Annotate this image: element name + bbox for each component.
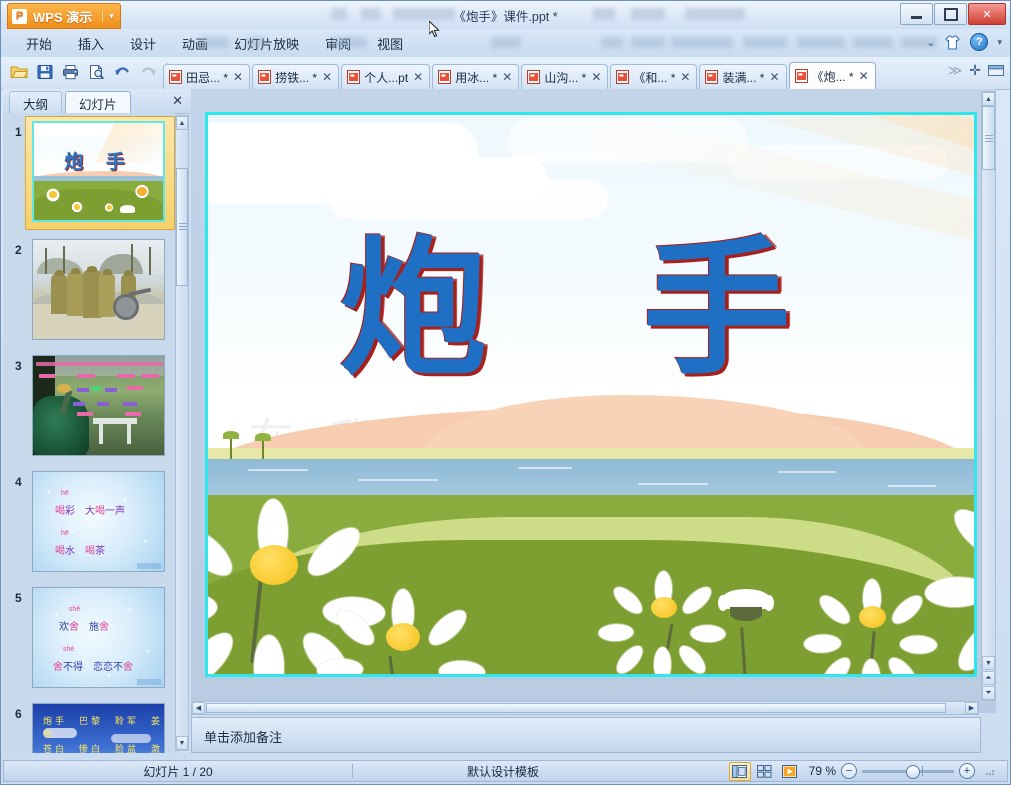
zoom-level-label: 79 % bbox=[809, 764, 836, 778]
window-title: 《炮手》课件.ppt * bbox=[1, 6, 1010, 25]
normal-view-icon[interactable] bbox=[729, 762, 751, 781]
tab-slides[interactable]: 幻灯片 bbox=[65, 91, 131, 114]
slides-panel-scrollbar[interactable]: ▲ ▼ bbox=[175, 115, 189, 751]
ppt-file-icon bbox=[527, 70, 540, 84]
scroll-up-button[interactable]: ▲ bbox=[176, 116, 188, 130]
menubar-blur-item bbox=[247, 37, 265, 48]
minimize-icon bbox=[911, 16, 922, 19]
document-tab-label: 山沟... * bbox=[544, 69, 586, 86]
daisy-flower-middle bbox=[346, 587, 462, 677]
document-tab-active[interactable]: 《炮... * ✕ bbox=[789, 62, 876, 89]
ppt-file-icon bbox=[347, 70, 360, 84]
slide-editing-stage: 在 我 的 心 里 是 一 种 心 情 炮 手 bbox=[191, 89, 996, 713]
zoom-control: 79 % − + bbox=[809, 763, 999, 779]
zoom-slider-knob[interactable] bbox=[906, 765, 920, 779]
stage-vertical-scrollbar[interactable]: ▲ ▼ ⏶ ⏷ bbox=[981, 91, 996, 701]
white-tuft-flower bbox=[716, 585, 776, 631]
thumbnail-image: hē 喝彩 大喝一声 hē 喝水 喝茶 bbox=[32, 471, 165, 572]
palm-trunk bbox=[262, 439, 264, 459]
menubar-blur-item bbox=[671, 37, 733, 48]
maximize-icon bbox=[944, 8, 958, 21]
thumbnail-image bbox=[32, 355, 165, 456]
current-slide[interactable]: 在 我 的 心 里 是 一 种 心 情 炮 手 bbox=[205, 112, 977, 677]
save-icon[interactable] bbox=[33, 60, 56, 84]
menubar-blur-item bbox=[491, 37, 521, 48]
document-tab-close-icon[interactable]: ✕ bbox=[769, 70, 779, 84]
next-slide-button[interactable]: ⏷ bbox=[982, 686, 995, 700]
notes-placeholder[interactable]: 单击添加备注 bbox=[204, 727, 282, 746]
palm-leaves bbox=[223, 431, 239, 439]
thumbnail-number: 5 bbox=[15, 591, 22, 605]
stage-scroll-left-button[interactable]: ◀ bbox=[192, 702, 205, 714]
document-tab[interactable]: 装满... * ✕ bbox=[699, 64, 786, 89]
design-template-label: 默认设计模板 bbox=[353, 761, 653, 781]
palm-trunk bbox=[230, 437, 232, 459]
document-tab-close-icon[interactable]: ✕ bbox=[233, 70, 243, 84]
close-button[interactable]: ✕ bbox=[968, 3, 1006, 25]
document-tab-close-icon[interactable]: ✕ bbox=[502, 70, 512, 84]
menubar-blur-item bbox=[797, 37, 845, 48]
document-tab-label: 装满... * bbox=[722, 69, 764, 86]
document-tab[interactable]: 山沟... * ✕ bbox=[521, 64, 608, 89]
slide-sorter-view-icon[interactable] bbox=[754, 762, 776, 781]
thumbnail-image bbox=[32, 239, 165, 340]
menubar-blur-item bbox=[201, 37, 229, 48]
zoom-out-button[interactable]: − bbox=[841, 763, 857, 779]
quick-access-toolbar: ▾ 《 田忌... * ✕ 捞铁... * ✕ 个人...pt ✕ 用冰... … bbox=[1, 57, 1010, 90]
undo-icon[interactable] bbox=[111, 60, 134, 84]
menu-item-design[interactable]: 设计 bbox=[117, 31, 169, 56]
minimize-button[interactable] bbox=[900, 3, 933, 25]
thumbnail-image: 炮手 巴黎 聆军 姜色 苍白 惨白 脸盆 激烈 瞄准 侵入 郊外 攻击 bbox=[32, 703, 165, 753]
menubar-blur-item bbox=[331, 37, 367, 48]
document-tab-label: 《和... * bbox=[633, 69, 675, 86]
slideshow-view-icon[interactable] bbox=[779, 762, 801, 781]
menubar-blur-item bbox=[631, 37, 665, 48]
document-tab[interactable]: 捞铁... * ✕ bbox=[252, 64, 339, 89]
document-tab-label: 《炮... * bbox=[812, 68, 854, 85]
document-tab-close-icon[interactable]: ✕ bbox=[591, 70, 601, 84]
stage-scroll-thumb[interactable] bbox=[982, 106, 995, 170]
window-controls: ✕ bbox=[900, 3, 1006, 25]
document-tab[interactable]: 用冰... * ✕ bbox=[432, 64, 519, 89]
document-tab-close-icon[interactable]: ✕ bbox=[322, 70, 332, 84]
ppt-file-icon bbox=[169, 70, 182, 84]
tab-outline[interactable]: 大纲 bbox=[9, 91, 62, 114]
ppt-file-icon bbox=[795, 69, 808, 83]
thumbnail-number: 3 bbox=[15, 359, 22, 373]
thumbnail-image: 炮 手 bbox=[32, 121, 165, 222]
stage-hscroll-thumb[interactable] bbox=[206, 703, 946, 713]
chevron-down-icon[interactable]: ⌄ bbox=[926, 36, 935, 49]
status-bar: 幻灯片 1 / 20 默认设计模板 79 % − + bbox=[3, 760, 1008, 782]
cloud-shape bbox=[328, 179, 608, 219]
document-tab[interactable]: 田忌... * ✕ bbox=[163, 64, 250, 89]
notes-pane[interactable]: 单击添加备注 bbox=[191, 717, 981, 753]
thumbnail-number: 4 bbox=[15, 475, 22, 489]
menu-item-insert[interactable]: 插入 bbox=[65, 31, 117, 56]
scroll-down-button[interactable]: ▼ bbox=[176, 736, 188, 750]
document-tab[interactable]: 《和... * ✕ bbox=[610, 64, 697, 89]
ppt-file-icon bbox=[705, 70, 718, 84]
menubar-blur-item bbox=[743, 37, 787, 48]
menubar-right-icons: ⌄ ? ▾ bbox=[926, 33, 1002, 51]
daisy-flower-large-left bbox=[205, 497, 356, 637]
title-bar: P WPS 演示 ▾ 《炮手》课件.ppt * ✕ bbox=[1, 1, 1010, 30]
stage-scroll-right-button[interactable]: ▶ bbox=[965, 702, 978, 714]
skin-shirt-icon[interactable] bbox=[944, 35, 961, 50]
print-preview-icon[interactable] bbox=[85, 60, 108, 84]
slides-panel: 大纲 幻灯片 ✕ 1 炮 手 bbox=[3, 89, 192, 753]
previous-slide-button[interactable]: ⏶ bbox=[982, 671, 995, 685]
print-icon[interactable] bbox=[59, 60, 82, 84]
document-tab-close-icon[interactable]: ✕ bbox=[859, 69, 869, 83]
menu-item-slideshow[interactable]: 幻灯片放映 bbox=[221, 31, 312, 56]
thumbnail-number: 1 bbox=[15, 125, 22, 139]
daisy-flower-small-center bbox=[620, 569, 708, 649]
slide-title-text[interactable]: 炮 手 bbox=[208, 235, 974, 383]
slides-panel-tabs: 大纲 幻灯片 ✕ bbox=[3, 89, 191, 114]
scroll-tabs-right-icon[interactable]: ≫ bbox=[948, 62, 963, 79]
open-icon[interactable] bbox=[7, 60, 30, 84]
slide-thumbnail-6[interactable]: 6 炮手 巴黎 聆军 姜色 苍白 惨白 脸盆 激烈 瞄准 侵入 郊外 攻击 bbox=[3, 703, 175, 753]
help-icon[interactable]: ? bbox=[970, 33, 988, 51]
document-tab[interactable]: 个人...pt ✕ bbox=[341, 64, 430, 89]
document-tab-close-icon[interactable]: ✕ bbox=[413, 70, 423, 84]
maximize-button[interactable] bbox=[934, 3, 967, 25]
tab-list-icon[interactable] bbox=[988, 64, 1004, 78]
document-tab-label: 用冰... * bbox=[455, 69, 497, 86]
view-mode-buttons bbox=[729, 762, 801, 781]
zoom-slider-tick bbox=[922, 766, 923, 776]
menubar-blur-item bbox=[853, 37, 893, 48]
menubar-blur-item bbox=[601, 37, 623, 48]
thumbnail-image: shě 欢舍 施舍 shè 舍不得 恋恋不舍 bbox=[32, 587, 165, 688]
stage-horizontal-scrollbar[interactable]: ◀ ▶ bbox=[191, 701, 979, 715]
slide-thumbnail-3[interactable]: 3 bbox=[3, 355, 175, 461]
caret-down-icon[interactable]: ▾ bbox=[997, 37, 1002, 48]
daisy-flower-large-right bbox=[968, 477, 977, 625]
tabbar-right-controls: ≫ ✛ bbox=[948, 62, 1004, 79]
document-tab-label: 田忌... * bbox=[186, 69, 228, 86]
ppt-file-icon bbox=[616, 70, 629, 84]
resize-grip-icon[interactable] bbox=[984, 765, 996, 777]
slide-thumbnail-4[interactable]: 4 hē 喝彩 大喝一声 hē 喝水 喝茶 bbox=[3, 471, 175, 577]
zoom-in-button[interactable]: + bbox=[959, 763, 975, 779]
slide-thumbnail-list[interactable]: 1 炮 手 bbox=[3, 113, 175, 753]
document-tab-label: 个人...pt bbox=[364, 69, 408, 86]
stage-scroll-up-button[interactable]: ▲ bbox=[982, 92, 995, 106]
redo-icon[interactable] bbox=[137, 60, 160, 84]
menu-bar: 开始 插入 设计 动画 幻灯片放映 审阅 视图 ⌄ ? ▾ bbox=[1, 29, 1010, 58]
zoom-slider-track[interactable] bbox=[862, 770, 954, 773]
thumbnail-title-text: 炮 手 bbox=[34, 147, 163, 174]
new-document-icon[interactable]: ✛ bbox=[969, 62, 981, 79]
mouse-cursor-icon bbox=[429, 21, 441, 39]
slide-thumbnail-1[interactable]: 1 炮 手 bbox=[3, 121, 175, 229]
menu-item-view[interactable]: 视图 bbox=[364, 31, 416, 56]
thumbnail-number: 2 bbox=[15, 243, 22, 257]
document-tab-close-icon[interactable]: ✕ bbox=[680, 70, 690, 84]
slide-counter: 幻灯片 1 / 20 bbox=[4, 761, 352, 781]
ppt-file-icon bbox=[258, 70, 271, 84]
wps-presentation-window: P WPS 演示 ▾ 《炮手》课件.ppt * ✕ 开始 插入 设计 动画 幻灯… bbox=[0, 0, 1011, 785]
document-tab-label: 捞铁... * bbox=[275, 69, 317, 86]
palm-leaves bbox=[255, 433, 271, 441]
thumbnail-number: 6 bbox=[15, 707, 22, 721]
ppt-file-icon bbox=[438, 70, 451, 84]
scroll-thumb[interactable] bbox=[176, 168, 188, 286]
stage-scroll-down-button[interactable]: ▼ bbox=[982, 656, 995, 670]
daisy-flower-small-right bbox=[826, 577, 918, 661]
document-tabs: 田忌... * ✕ 捞铁... * ✕ 个人...pt ✕ 用冰... * ✕ … bbox=[163, 61, 878, 89]
close-panel-icon[interactable]: ✕ bbox=[172, 93, 183, 109]
slide-thumbnail-2[interactable]: 2 bbox=[3, 239, 175, 345]
slide-thumbnail-5[interactable]: 5 shě 欢舍 施舍 shè 舍不得 恋恋不舍 bbox=[3, 587, 175, 693]
menu-item-start[interactable]: 开始 bbox=[13, 31, 65, 56]
